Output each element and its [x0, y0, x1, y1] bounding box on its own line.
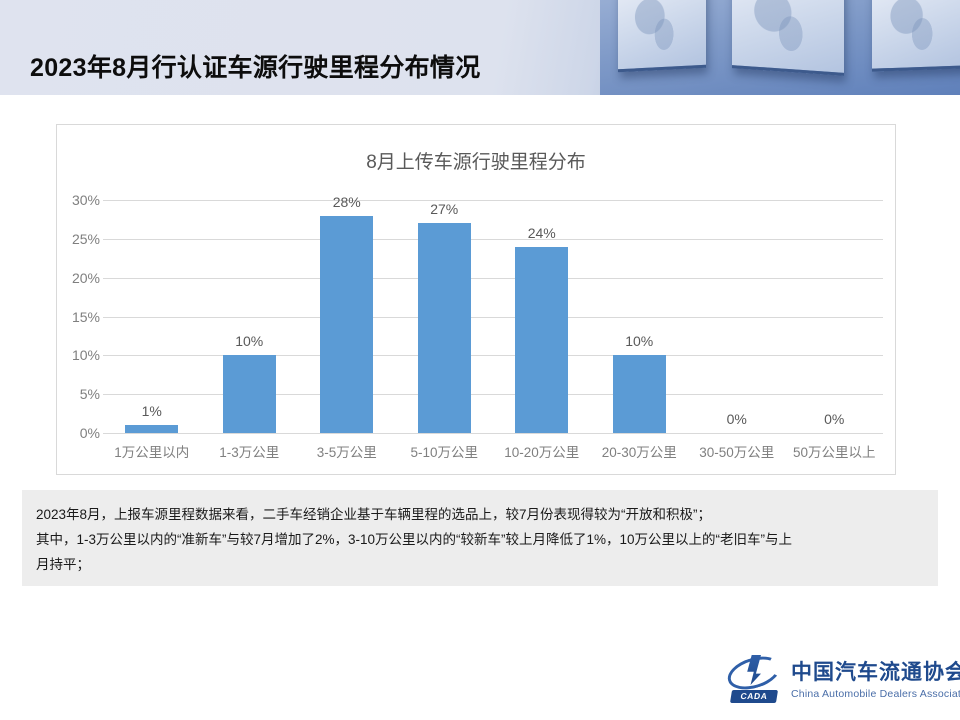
bar-value-label: 28%	[298, 194, 396, 210]
x-axis-tick-label: 1-3万公里	[201, 441, 299, 461]
x-axis-line	[103, 433, 883, 434]
world-map-icon	[630, 0, 685, 54]
world-map-icon	[885, 0, 945, 53]
x-axis-tick-label: 20-30万公里	[591, 441, 689, 461]
y-axis-tick-label: 10%	[40, 347, 100, 363]
bar-slot: 10%	[591, 200, 689, 433]
bar[interactable]	[515, 247, 568, 433]
page-title: 2023年8月行认证车源行驶里程分布情况	[30, 48, 481, 84]
bar-value-label: 0%	[688, 411, 786, 427]
bar[interactable]	[223, 355, 276, 433]
banner-cube	[732, 0, 844, 76]
bar-value-label: 0%	[786, 411, 884, 427]
plot-area: 0%5%10%15%20%25%30% 1%10%28%27%24%10%0%0…	[103, 200, 883, 433]
note-line: 其中，1-3万公里以内的“准新车”与较7月增加了2%，3-10万公里以内的“较新…	[36, 527, 924, 552]
x-axis-tick-label: 10-20万公里	[493, 441, 591, 461]
y-axis-tick-label: 25%	[40, 231, 100, 247]
bar-value-label: 27%	[396, 201, 494, 217]
bar-slot: 27%	[396, 200, 494, 433]
bar-slot: 0%	[786, 200, 884, 433]
x-axis-tick-label: 50万公里以上	[786, 441, 884, 461]
cada-emblem-icon: CADA	[726, 653, 782, 703]
org-name-en: China Automobile Dealers Association	[791, 688, 960, 700]
x-axis-tick-label: 1万公里以内	[103, 441, 201, 461]
bar-value-label: 1%	[103, 403, 201, 419]
bar[interactable]	[613, 355, 666, 433]
bar-slot: 1%	[103, 200, 201, 433]
chart-card: 8月上传车源行驶里程分布 0%5%10%15%20%25%30% 1%10%28…	[56, 124, 896, 475]
x-axis-labels: 1万公里以内1-3万公里3-5万公里5-10万公里10-20万公里20-30万公…	[103, 441, 883, 461]
bar-series: 1%10%28%27%24%10%0%0%	[103, 200, 883, 433]
header-banner: 2023年8月行认证车源行驶里程分布情况	[0, 0, 960, 95]
bar-slot: 0%	[688, 200, 786, 433]
y-axis-tick-label: 15%	[40, 309, 100, 325]
x-axis-tick-label: 5-10万公里	[396, 441, 494, 461]
bar[interactable]	[125, 425, 178, 433]
note-line: 月持平；	[36, 552, 924, 577]
cubes-banner-icon	[600, 0, 960, 95]
y-axis-tick-label: 30%	[40, 192, 100, 208]
y-axis-tick-label: 5%	[40, 386, 100, 402]
logo-text: 中国汽车流通协会 China Automobile Dealers Associ…	[791, 656, 960, 700]
bar-value-label: 10%	[201, 333, 299, 349]
footer-logo: CADA 中国汽车流通协会 China Automobile Dealers A…	[726, 650, 941, 706]
x-axis-tick-label: 3-5万公里	[298, 441, 396, 461]
chart-title: 8月上传车源行驶里程分布	[57, 147, 895, 174]
banner-cube	[872, 0, 960, 72]
x-axis-tick-label: 30-50万公里	[688, 441, 786, 461]
bar[interactable]	[320, 216, 373, 433]
summary-note-box: 2023年8月，上报车源里程数据来看，二手车经销企业基于车辆里程的选品上，较7月…	[22, 490, 938, 586]
bar[interactable]	[418, 223, 471, 433]
y-axis-tick-label: 20%	[40, 270, 100, 286]
note-line: 2023年8月，上报车源里程数据来看，二手车经销企业基于车辆里程的选品上，较7月…	[36, 502, 924, 527]
org-name-cn: 中国汽车流通协会	[791, 656, 960, 686]
bar-value-label: 10%	[591, 333, 689, 349]
bar-slot: 10%	[201, 200, 299, 433]
bar-slot: 24%	[493, 200, 591, 433]
logo-mark-text: CADA	[730, 690, 778, 703]
world-map-icon	[748, 0, 817, 55]
bar-value-label: 24%	[493, 225, 591, 241]
y-axis-tick-label: 0%	[40, 425, 100, 441]
banner-cube	[618, 0, 706, 72]
bar-slot: 28%	[298, 200, 396, 433]
